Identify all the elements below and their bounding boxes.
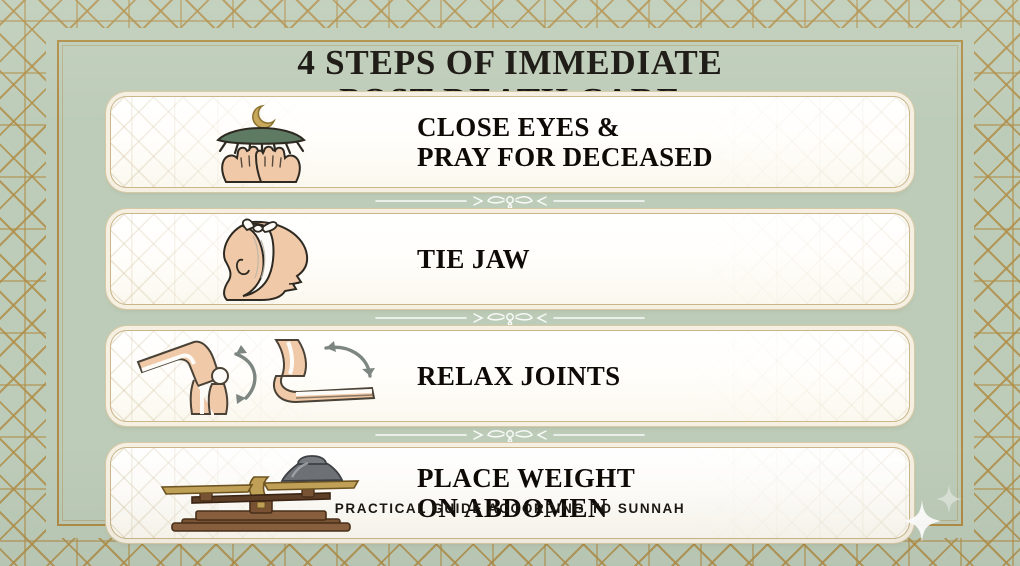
step-card-1[interactable]: CLOSE EYES & PRAY FOR DECEASED — [110, 96, 910, 188]
floral-flourish-divider — [110, 305, 910, 330]
floral-flourish-divider — [110, 188, 910, 213]
step-label-3: RELAX JOINTS — [411, 361, 909, 391]
knee-elbow-joint-flex-arrows-icon — [111, 330, 411, 422]
steps-list: CLOSE EYES & PRAY FOR DECEASED — [110, 96, 910, 539]
page-title-line-1: 4 STEPS OF IMMEDIATE — [62, 44, 958, 82]
step-card-2[interactable]: TIE JAW — [110, 213, 910, 305]
step-label-1: CLOSE EYES & PRAY FOR DECEASED — [411, 112, 909, 172]
step-item-2: TIE JAW — [110, 213, 910, 305]
head-profile-jaw-bandage-icon — [111, 213, 411, 305]
floral-flourish-divider — [110, 422, 910, 447]
step-item-1: CLOSE EYES & PRAY FOR DECEASED — [110, 96, 910, 188]
step-label-2-line-1: TIE JAW — [417, 244, 895, 274]
footer-caption: PRACTICAL GUIDE ACCORDING TO SUNNAH — [62, 501, 958, 516]
step-item-3: RELAX JOINTS — [110, 330, 910, 422]
closed-eye-crescent-praying-hands-icon — [111, 96, 411, 188]
balance-scale-with-weight-icon — [111, 447, 411, 539]
step-label-4-line-1: PLACE WEIGHT — [417, 463, 895, 493]
step-card-4[interactable]: PLACE WEIGHT ON ABDOMEN — [110, 447, 910, 539]
step-item-4: PLACE WEIGHT ON ABDOMEN — [110, 447, 910, 539]
step-label-1-line-2: PRAY FOR DECEASED — [417, 142, 895, 172]
step-label-3-line-1: RELAX JOINTS — [417, 361, 895, 391]
poster-content: 4 STEPS OF IMMEDIATE POST-DEATH CARE — [62, 44, 958, 522]
step-card-3[interactable]: RELAX JOINTS — [110, 330, 910, 422]
step-label-2: TIE JAW — [411, 244, 909, 274]
step-label-1-line-1: CLOSE EYES & — [417, 112, 895, 142]
poster-root: 4 STEPS OF IMMEDIATE POST-DEATH CARE — [0, 0, 1020, 566]
